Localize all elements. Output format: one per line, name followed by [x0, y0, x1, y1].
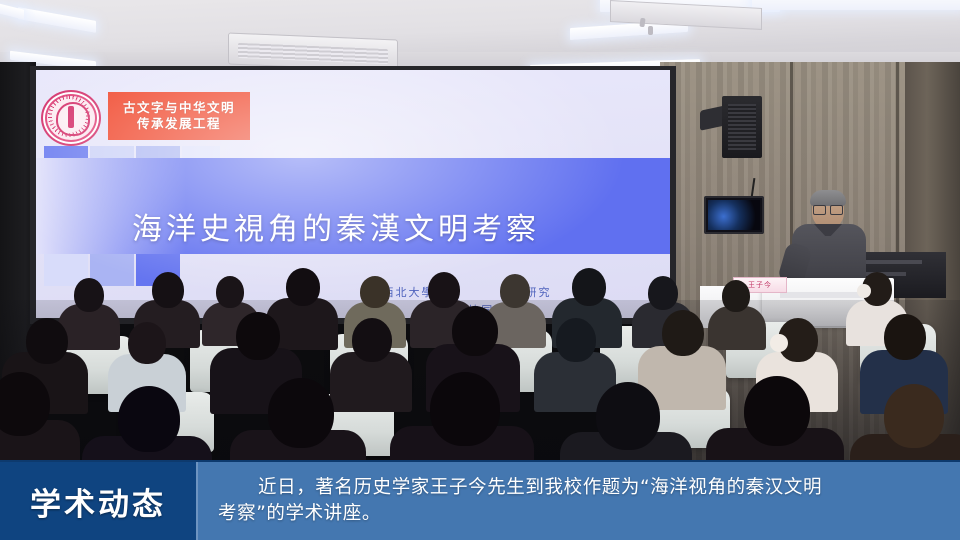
glasses-icon	[813, 205, 843, 213]
ceiling-panel-light	[752, 0, 960, 10]
audience-head	[884, 314, 926, 360]
audience-head	[556, 318, 596, 362]
audience-head	[452, 306, 498, 356]
audience-head	[500, 274, 530, 308]
audience-head	[428, 272, 460, 308]
hair-bun	[770, 334, 788, 352]
caption-category-block: 学术动态	[0, 462, 196, 540]
caption-divider	[196, 462, 198, 540]
audience-head	[118, 386, 180, 452]
wall-monitor	[704, 196, 764, 234]
caption-line-1-text: 近日，著名历史学家王子今先生到我校作题为“海洋视角的秦汉文明	[258, 477, 822, 498]
caption-category-text: 学术动态	[30, 479, 166, 524]
audience-head	[128, 322, 166, 364]
caption-line-2: 考察”的学术讲座。	[218, 501, 944, 527]
audience-head	[268, 378, 334, 448]
hair-bun	[857, 284, 871, 298]
audience-head	[596, 382, 660, 450]
audience-head	[352, 318, 392, 362]
audience-head	[152, 272, 184, 308]
caption-body: 近日，著名历史学家王子今先生到我校作题为“海洋视角的秦汉文明 考察”的学术讲座。	[196, 462, 960, 540]
audience-head	[286, 268, 320, 306]
audience-shoulders	[708, 306, 766, 350]
audience-head	[236, 312, 280, 360]
audience-head	[662, 310, 704, 356]
audience-head	[744, 376, 810, 446]
name-card-text: 王子今	[748, 280, 772, 290]
audience-head	[722, 280, 750, 312]
lecture-photo-stage: 古文字与中华文明 传承发展工程 海洋史視角的秦漢文明考察 西北大學 意識研究 “…	[0, 0, 960, 540]
audience-head	[360, 276, 390, 308]
caption-line-1: 近日，著名历史学家王子今先生到我校作题为“海洋视角的秦汉文明	[218, 475, 944, 501]
audience-head	[648, 276, 678, 310]
audience-head	[884, 384, 944, 448]
audience-head	[26, 318, 68, 364]
audience-head	[572, 268, 606, 306]
caption-bar: 学术动态 近日，著名历史学家王子今先生到我校作题为“海洋视角的秦汉文明 考察”的…	[0, 462, 960, 540]
audience-head	[74, 278, 104, 312]
audience-head	[430, 372, 500, 446]
sprinkler-icon	[648, 26, 653, 35]
lecturer-hair	[810, 190, 846, 206]
audience-head	[216, 276, 244, 308]
ceiling-speaker-icon	[722, 96, 762, 158]
